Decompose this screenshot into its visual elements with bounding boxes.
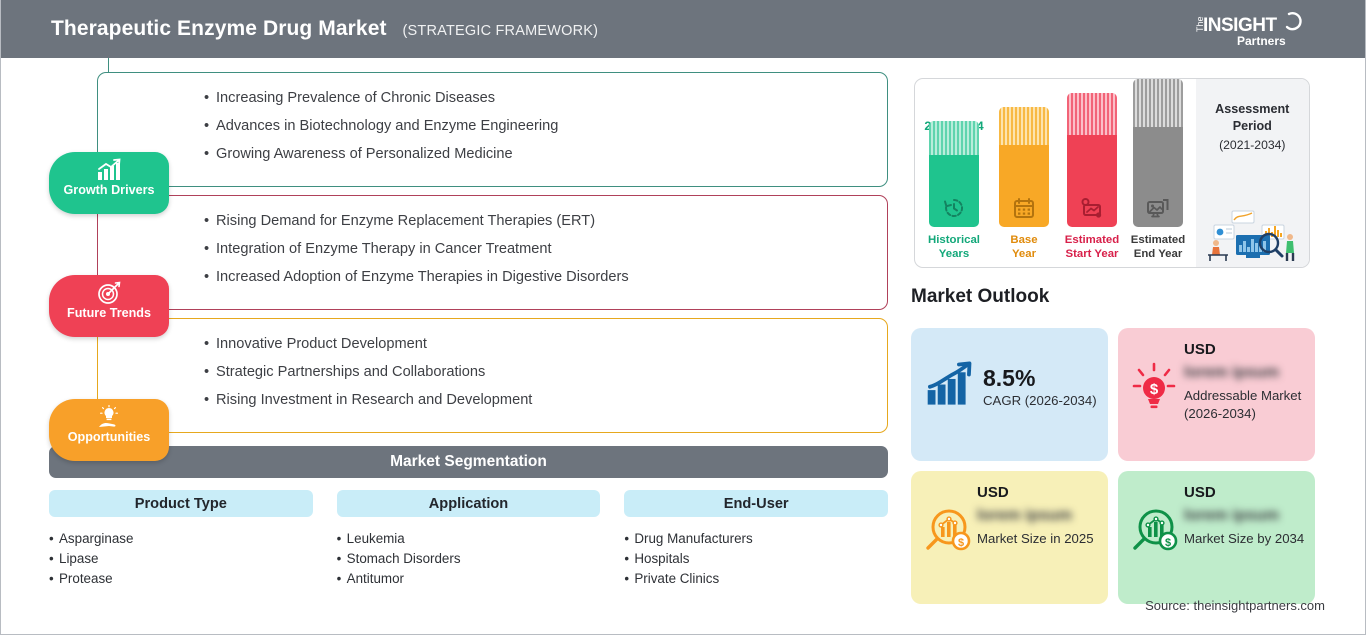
card-label: Addressable Market (2026-2034) [1184, 387, 1305, 423]
bar-caption-line2: Year [1012, 248, 1036, 260]
segmentation-column-product-type: Product Type Asparginase Lipase Protease [49, 490, 313, 589]
bullet-item: Rising Investment in Research and Develo… [204, 386, 887, 414]
market-segmentation-title: Market Segmentation [390, 453, 547, 471]
card-cagr[interactable]: 8.5% CAGR (2026-2034) [911, 328, 1108, 461]
card-market-size-2034[interactable]: $ USD lorem ipsum Market Size by 2034 [1118, 471, 1315, 604]
bullet-item: Increasing Prevalence of Chronic Disease… [204, 84, 887, 112]
currency-label: USD [1184, 483, 1305, 503]
bar-chart-arrow-icon [96, 158, 122, 182]
segmentation-column-list: Drug Manufacturers Hospitals Private Cli… [624, 529, 888, 589]
segmentation-column-application: Application Leukemia Stomach Disorders A… [337, 490, 601, 589]
person-right [1286, 234, 1294, 261]
list-item: Antitumor [337, 569, 601, 589]
svg-text:$: $ [1150, 381, 1159, 398]
badge-label: Opportunities [68, 430, 151, 444]
svg-text:$: $ [958, 537, 964, 549]
bullet-item: Advances in Biotechnology and Enzyme Eng… [204, 112, 887, 140]
lightbulb-dollar-icon: $ [1128, 362, 1180, 414]
segmentation-column-header: Application [337, 490, 601, 517]
logo-arc-icon [1287, 13, 1301, 29]
cagr-label: CAGR (2026-2034) [983, 392, 1098, 410]
magnifier-chart-dollar-icon: $ [921, 505, 973, 557]
list-item: Stomach Disorders [337, 549, 601, 569]
card-label: Market Size in 2025 [977, 530, 1098, 548]
card-body: USD lorem ipsum Market Size in 2025 [973, 483, 1098, 548]
target-dart-icon [96, 281, 122, 305]
list-item: Lipase [49, 549, 313, 569]
bar-stripe-cap [929, 121, 979, 155]
source-attribution: Source: theinsightpartners.com [1145, 598, 1325, 613]
list-item: Private Clinics [624, 569, 888, 589]
settings-chart-icon [1080, 197, 1104, 219]
bar-rect [999, 107, 1049, 227]
redacted-value: lorem ipsum [1184, 505, 1305, 527]
bar-body [999, 145, 1049, 227]
market-segmentation-header: Market Segmentation [49, 446, 888, 478]
redacted-value: lorem ipsum [977, 505, 1098, 527]
bar-rect [929, 121, 979, 227]
bar-stripe-cap [1067, 93, 1117, 135]
list-item: Leukemia [337, 529, 601, 549]
panel-opportunities: Innovative Product Development Strategic… [97, 318, 888, 433]
bar-chart-arrow-icon [921, 360, 979, 409]
assessment-period-side: Assessment Period (2021-2034) [1196, 79, 1309, 267]
panel-future-trends: Rising Demand for Enzyme Replacement The… [97, 195, 888, 310]
svg-text:$: $ [1165, 537, 1171, 549]
bullet-item: Rising Demand for Enzyme Replacement The… [204, 207, 887, 235]
segmentation-column-header: Product Type [49, 490, 313, 517]
cagr-value: 8.5% [983, 364, 1098, 392]
card-body: USD lorem ipsum Market Size by 2034 [1180, 483, 1305, 548]
bar-caption: Historical Years [918, 233, 990, 261]
assessment-period-range: (2021-2034) [1196, 138, 1309, 152]
analytics-dashboard-illustration [1202, 205, 1306, 263]
bar-body [1133, 127, 1183, 227]
calendar-icon [1012, 197, 1036, 219]
card-market-size-2025[interactable]: $ USD lorem ipsum Market Size in 2025 [911, 471, 1108, 604]
bullet-list-growth-drivers: Increasing Prevalence of Chronic Disease… [204, 73, 887, 168]
card-addressable-market[interactable]: $ USD lorem ipsum Addressable Market (20… [1118, 328, 1315, 461]
market-outlook-title: Market Outlook [911, 286, 1049, 308]
person-left [1208, 240, 1228, 261]
assessment-title-line1: Assessment [1215, 102, 1289, 116]
badge-label: Growth Drivers [64, 183, 155, 197]
currency-label: USD [1184, 340, 1305, 360]
segmentation-column-header: End-User [624, 490, 888, 517]
list-item: Protease [49, 569, 313, 589]
badge-future-trends[interactable]: Future Trends [49, 275, 169, 337]
market-outlook-cards: 8.5% CAGR (2026-2034) [911, 328, 1325, 604]
page-subtitle: (STRATEGIC FRAMEWORK) [403, 23, 599, 39]
bar-caption: Estimated Start Year [1056, 233, 1128, 261]
bullet-item: Increased Adoption of Enzyme Therapies i… [204, 263, 887, 291]
segmentation-column-list: Leukemia Stomach Disorders Antitumor [337, 529, 601, 589]
bar-caption-line2: End Year [1134, 248, 1183, 260]
market-segmentation-columns: Product Type Asparginase Lipase Protease… [49, 490, 888, 589]
bullet-item: Growing Awareness of Personalized Medici… [204, 140, 887, 168]
list-item: Hospitals [624, 549, 888, 569]
redacted-value: lorem ipsum [1184, 362, 1305, 384]
bar-caption: Estimated End Year [1122, 233, 1194, 261]
bullet-item: Innovative Product Development [204, 330, 887, 358]
card-body: 8.5% CAGR (2026-2034) [979, 364, 1098, 410]
infographic-page: Therapeutic Enzyme Drug Market (STRATEGI… [0, 0, 1366, 635]
bar-caption: Base Year [988, 233, 1060, 261]
assessment-period-panel: 2021-2024 Historical Ye [914, 78, 1310, 268]
bar-rect [1067, 93, 1117, 227]
logo-partners-text: Partners [1237, 34, 1286, 48]
card-icon-wrap [921, 360, 979, 414]
bar-caption-line2: Start Year [1066, 248, 1119, 260]
bullet-item: Integration of Enzyme Therapy in Cancer … [204, 235, 887, 263]
clock-rewind-icon [942, 197, 966, 219]
bar-stripe-cap [999, 107, 1049, 145]
magnifier-chart-dollar-icon: $ [1128, 505, 1180, 557]
card-icon-wrap: $ [921, 505, 973, 562]
left-column: Increasing Prevalence of Chronic Disease… [1, 58, 906, 635]
bar-body [929, 155, 979, 227]
list-item: Drug Manufacturers [624, 529, 888, 549]
currency-label: USD [977, 483, 1098, 503]
list-item: Asparginase [49, 529, 313, 549]
card-icon-wrap: $ [1128, 505, 1180, 562]
bar-body [1067, 135, 1117, 227]
right-column: 2021-2024 Historical Ye [906, 58, 1366, 635]
segmentation-column-list: Asparginase Lipase Protease [49, 529, 313, 589]
bar-stripe-cap [1133, 79, 1183, 127]
segmentation-column-end-user: End-User Drug Manufacturers Hospitals Pr… [624, 490, 888, 589]
bullet-list-future-trends: Rising Demand for Enzyme Replacement The… [204, 196, 887, 291]
card-body: USD lorem ipsum Addressable Market (2026… [1180, 340, 1305, 423]
page-title: Therapeutic Enzyme Drug Market (STRATEGI… [51, 17, 598, 41]
card-label: Market Size by 2034 [1184, 530, 1305, 548]
bar-caption-line2: Years [939, 248, 969, 260]
bar-caption-line1: Historical [928, 234, 980, 246]
bar-caption-line1: Estimated [1131, 234, 1185, 246]
bullet-list-opportunities: Innovative Product Development Strategic… [204, 319, 887, 414]
bar-caption-line1: Base [1010, 234, 1037, 246]
insight-partners-logo: The INSIGHT Partners [1189, 8, 1309, 50]
assessment-bars: 2021-2024 Historical Ye [915, 79, 1196, 267]
assessment-period-title: Assessment Period [1196, 79, 1309, 135]
card-icon-wrap: $ [1128, 362, 1180, 419]
monitor-image-icon [1146, 197, 1170, 219]
badge-growth-drivers[interactable]: Growth Drivers [49, 152, 169, 214]
page-header: Therapeutic Enzyme Drug Market (STRATEGI… [1, 0, 1366, 58]
assessment-title-line2: Period [1233, 119, 1272, 133]
panel-growth-drivers: Increasing Prevalence of Chronic Disease… [97, 72, 888, 187]
bullet-item: Strategic Partnerships and Collaboration… [204, 358, 887, 386]
bar-rect [1133, 79, 1183, 227]
badge-label: Future Trends [67, 306, 151, 320]
logo-insight-text: INSIGHT [1203, 15, 1277, 36]
badge-opportunities[interactable]: Opportunities [49, 399, 169, 461]
lightbulb-hand-icon [96, 405, 122, 429]
bar-caption-line1: Estimated [1065, 234, 1119, 246]
page-title-text: Therapeutic Enzyme Drug Market [51, 17, 387, 40]
